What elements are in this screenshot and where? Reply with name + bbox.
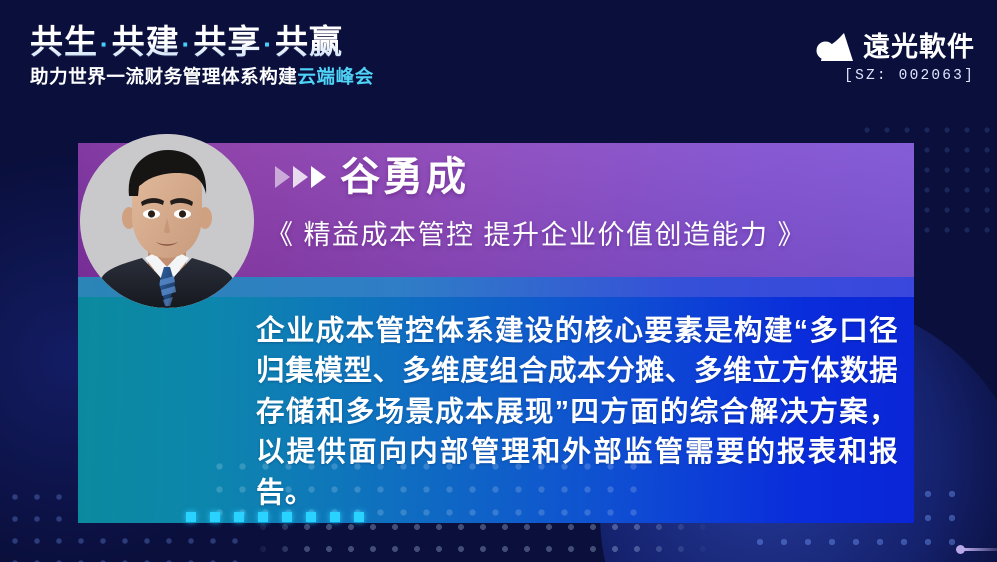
slogan-part-4: 共赢 (275, 23, 343, 60)
triple-chevron-right-icon (275, 166, 326, 188)
event-slogan: 共生·共建·共享·共赢 (30, 24, 450, 61)
speaker-name-row: 谷勇成 (275, 157, 469, 197)
slogan-part-2: 共建 (112, 23, 180, 60)
speaker-topic: 《 精益成本管控 提升企业价值创造能力 》 (266, 219, 806, 251)
event-subtitle-main: 助力世界一流财务管理体系构建 (30, 66, 297, 87)
quote-text: 企业成本管控体系建设的核心要素是构建“多口径归集模型、多维度组合成本分摊、多维立… (256, 311, 898, 513)
triangle-circle-logo-icon (814, 32, 854, 62)
slogan-separator-2: · (180, 29, 194, 59)
event-subtitle: 助力世界一流财务管理体系构建云端峰会 (30, 66, 450, 88)
quote-panel: 企业成本管控体系建设的核心要素是构建“多口径归集模型、多维度组合成本分摊、多维立… (78, 297, 914, 523)
slogan-part-1: 共生 (30, 23, 98, 60)
tail-line-decoration (964, 548, 997, 551)
slogan-separator-3: · (261, 29, 275, 59)
brand-block: 遠光軟件 [SZ: 002063] (814, 32, 975, 84)
event-subtitle-accent: 云端峰会 (297, 66, 373, 87)
speaker-portrait-photo (80, 134, 254, 308)
speaker-name: 谷勇成 (340, 157, 469, 197)
tail-dot-decoration-icon (956, 545, 965, 554)
slide-canvas: 共生·共建·共享·共赢 助力世界一流财务管理体系构建云端峰会 遠光軟件 [SZ:… (0, 0, 997, 562)
slogan-part-3: 共享 (193, 23, 261, 60)
slogan-separator-1: · (98, 29, 112, 59)
brand-stock-code: [SZ: 002063] (814, 68, 975, 84)
event-header: 共生·共建·共享·共赢 助力世界一流财务管理体系构建云端峰会 (30, 24, 450, 88)
brand-row: 遠光軟件 (814, 32, 975, 62)
brand-name: 遠光軟件 (863, 34, 975, 61)
